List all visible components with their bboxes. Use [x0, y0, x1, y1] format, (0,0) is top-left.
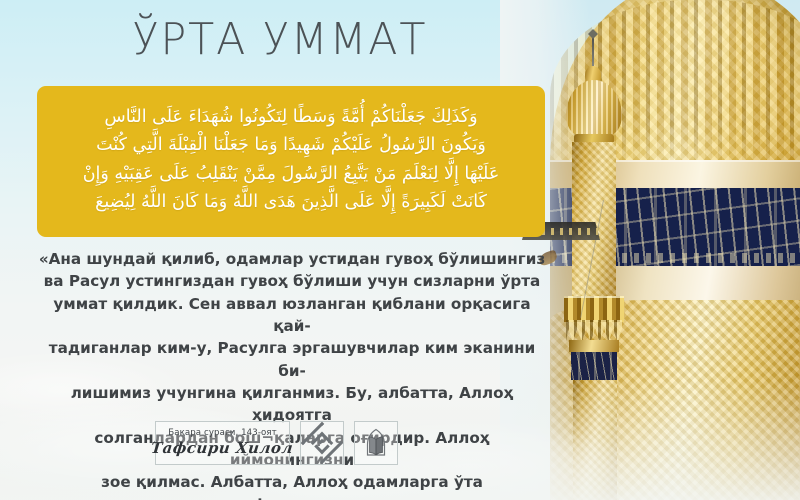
- translation-line: ва Расул устингиздан гувоҳ бўлиши учун с…: [38, 270, 546, 292]
- open-book-mihrab-icon: [361, 428, 391, 458]
- kufic-calligraphy-icon: [301, 422, 343, 464]
- book-logo-badge: [354, 421, 398, 465]
- translation-line: тадиганлар ким-у, Расулга эргашувчилар к…: [38, 337, 546, 382]
- ayah-line: كَانَتْ لَكَبِيرَةً إِلَّا عَلَى الَّذِي…: [51, 188, 531, 216]
- translation-line: уммат қилдик. Сен аввал юзланган қиблани…: [38, 293, 546, 338]
- citation-badge: Бақара сураси, 143-оят Тафсири Хилол: [155, 421, 290, 465]
- translation-line: «Ана шундай қилиб, одамлар устидан гувоҳ…: [38, 248, 546, 270]
- citation-reference: Бақара сураси, 143-оят: [168, 428, 277, 438]
- kufic-logo-badge: [300, 421, 344, 465]
- translation-line: зое қилмас. Албатта, Аллоҳ одамларга ўта…: [38, 471, 546, 500]
- ayah-highlight-box: وَكَذَلِكَ جَعَلْنَاكُمْ أُمَّةً وَسَطًا…: [37, 86, 545, 237]
- ayah-line: وَكَذَلِكَ جَعَلْنَاكُمْ أُمَّةً وَسَطًا…: [51, 103, 531, 131]
- ayah-line: وَيَكُونَ الرَّسُولُ عَلَيْكُمْ شَهِيدًا…: [51, 131, 531, 159]
- slide-content: ЎРТА УММАТ وَكَذَلِكَ جَعَلْنَاكُمْ أُمَ…: [0, 0, 800, 500]
- slide-canvas: ЎРТА УММАТ وَكَذَلِكَ جَعَلْنَاكُمْ أُمَ…: [0, 0, 800, 500]
- page-title: ЎРТА УММАТ: [8, 14, 551, 65]
- citation-brand: Тафсири Хилол: [151, 439, 295, 457]
- ayah-line: عَلَيْهَا إِلَّا لِنَعْلَمَ مَنْ يَتَّبِ…: [51, 160, 531, 188]
- kufic-calligraphy-glyph: [301, 422, 343, 464]
- footer-badges: Бақара сураси, 143-оят Тафсири Хилол: [155, 421, 398, 465]
- ayah-arabic-text: وَكَذَلِكَ جَعَلْنَاكُمْ أُمَّةً وَسَطًا…: [51, 103, 531, 216]
